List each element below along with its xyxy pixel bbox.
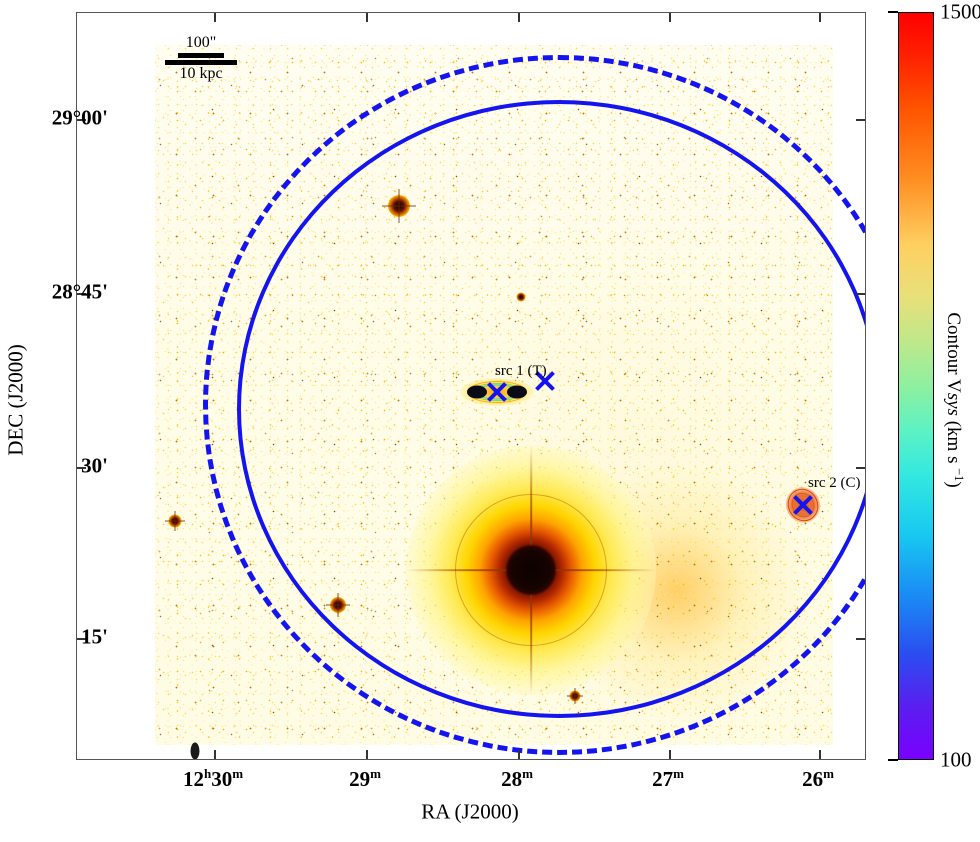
x-tick <box>214 13 216 22</box>
x-tick <box>518 750 520 759</box>
x-tick <box>669 750 671 759</box>
colorbar-label-sub: sys <box>943 393 964 416</box>
solid-blue-circle <box>237 100 866 718</box>
src-1-x-marker <box>486 381 508 403</box>
colorbar-unit-open: (km s <box>943 416 964 464</box>
x-tick <box>819 750 821 759</box>
colorbar <box>898 12 934 760</box>
y-tick-label: 15' <box>81 625 108 650</box>
src-1-label: src 1 (T) <box>495 363 547 380</box>
colorbar-max-label: 1500 <box>940 0 980 25</box>
figure-canvas: 100" 10 kpc src 1 <box>0 0 980 842</box>
x-tick-min-unit: m <box>673 766 684 781</box>
x-axis-label: RA (J2000) <box>421 800 518 825</box>
synthesized-beam-ellipse <box>191 743 200 760</box>
x-tick-min: 26 <box>802 767 823 791</box>
x-tick <box>669 13 671 22</box>
scale-bar-angular: 100" <box>165 35 237 52</box>
x-tick <box>819 13 821 22</box>
x-tick-label: 12h30m <box>183 766 243 792</box>
scale-bar: 100" 10 kpc <box>165 35 237 83</box>
src-2-position-x-marker <box>792 494 814 516</box>
y-tick <box>856 119 865 121</box>
src-2-label: src 2 (C) <box>808 475 861 492</box>
y-tick <box>856 467 865 469</box>
x-tick-min: 30 <box>211 767 232 791</box>
x-tick <box>518 13 520 22</box>
x-tick-min-unit: m <box>232 766 243 781</box>
x-tick-min-unit: m <box>370 766 381 781</box>
x-tick-label: 26m <box>802 766 834 792</box>
y-tick-label: 29°00' <box>52 106 108 131</box>
y-tick <box>856 638 865 640</box>
x-tick-label: 27m <box>652 766 684 792</box>
y-tick-label: 30' <box>81 454 108 479</box>
colorbar-tick-min <box>888 759 898 761</box>
y-tick-label: 28°45' <box>52 280 108 305</box>
x-tick-min: 28 <box>501 767 522 791</box>
colorbar-label: Contour Vsys (km s −1) <box>942 312 966 487</box>
y-axis-label: DEC (J2000) <box>4 300 29 500</box>
x-tick-min-unit: m <box>522 766 533 781</box>
colorbar-label-prefix: Contour V <box>943 312 964 392</box>
x-tick-hour: 12 <box>183 767 204 791</box>
x-tick <box>366 750 368 759</box>
y-tick <box>856 293 865 295</box>
x-tick <box>366 13 368 22</box>
x-tick-min: 29 <box>349 767 370 791</box>
colorbar-unit-close: ) <box>943 481 964 487</box>
x-tick-min-unit: m <box>823 766 834 781</box>
colorbar-min-label: 100 <box>940 748 972 773</box>
colorbar-unit-exponent: −1 <box>952 468 966 481</box>
scale-bar-line-angular <box>178 53 224 58</box>
x-tick-min: 27 <box>652 767 673 791</box>
x-tick <box>214 750 216 759</box>
x-tick-label: 29m <box>349 766 381 792</box>
x-tick-label: 28m <box>501 766 533 792</box>
colorbar-tick-max <box>888 11 898 13</box>
scale-bar-physical: 10 kpc <box>165 66 237 83</box>
